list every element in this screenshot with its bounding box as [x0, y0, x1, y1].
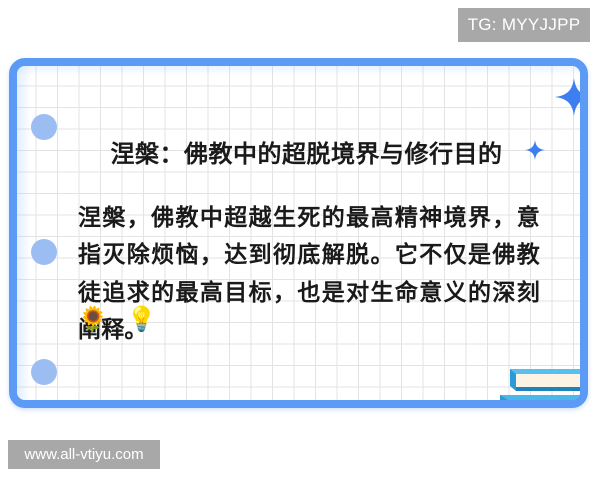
book-stack-icon — [494, 353, 588, 408]
note-card: 涅槃：佛教中的超脱境界与修行目的 涅槃，佛教中超越生死的最高精神境界，意指灭除烦… — [9, 58, 588, 408]
sparkle-icon — [555, 78, 588, 116]
binder-hole-icon — [31, 114, 57, 140]
binder-hole-icon — [31, 239, 57, 265]
tg-channel-badge: TG: MYYJJPP — [458, 8, 590, 42]
page-title: 涅槃：佛教中的超脱境界与修行目的 — [37, 141, 576, 170]
binder-hole-icon — [31, 359, 57, 385]
screenshot-canvas: TG: MYYJJPP — [0, 0, 600, 480]
emoji-row: 🌻 💡 — [78, 308, 162, 332]
site-watermark: www.all-vtiyu.com — [8, 440, 160, 469]
